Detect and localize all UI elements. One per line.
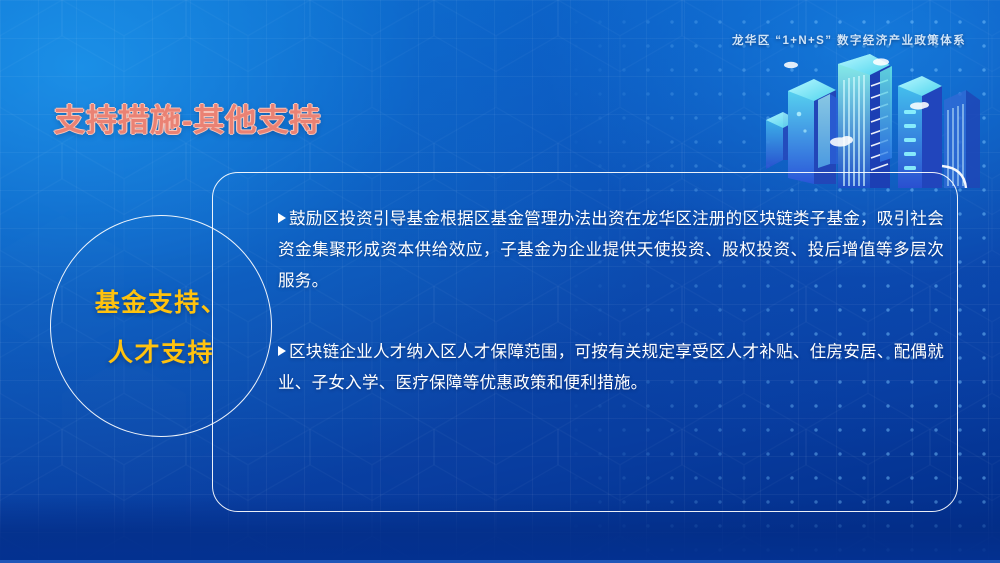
city-skyline-illustration bbox=[752, 38, 988, 188]
content-body: 鼓励区投资引导基金根据区基金管理办法出资在龙华区注册的区块链类子基金，吸引社会资… bbox=[278, 203, 944, 398]
slide-canvas: 龙华区 “1+N+S” 数字经济产业政策体系 bbox=[0, 0, 1000, 563]
paragraph-2-text: 区块链企业人才纳入区人才保障范围，可按有关规定享受区人才补贴、住房安居、配偶就业… bbox=[278, 342, 944, 392]
paragraph-1-text: 鼓励区投资引导基金根据区基金管理办法出资在龙华区注册的区块链类子基金，吸引社会资… bbox=[278, 209, 944, 290]
page-title: 支持措施-其他支持 bbox=[54, 95, 321, 140]
bullet-paragraph-2: 区块链企业人才纳入区人才保障范围，可按有关规定享受区人才补贴、住房安居、配偶就业… bbox=[278, 336, 944, 398]
category-label-line-2: 人才支持 bbox=[108, 333, 214, 369]
category-label-line-1: 基金支持、 bbox=[95, 283, 228, 319]
triangle-bullet-icon bbox=[278, 346, 286, 356]
policy-system-header: 龙华区 “1+N+S” 数字经济产业政策体系 bbox=[732, 32, 966, 48]
triangle-bullet-icon bbox=[278, 213, 286, 223]
category-circle: 基金支持、 人才支持 bbox=[50, 215, 272, 437]
bullet-paragraph-1: 鼓励区投资引导基金根据区基金管理办法出资在龙华区注册的区块链类子基金，吸引社会资… bbox=[278, 203, 944, 296]
